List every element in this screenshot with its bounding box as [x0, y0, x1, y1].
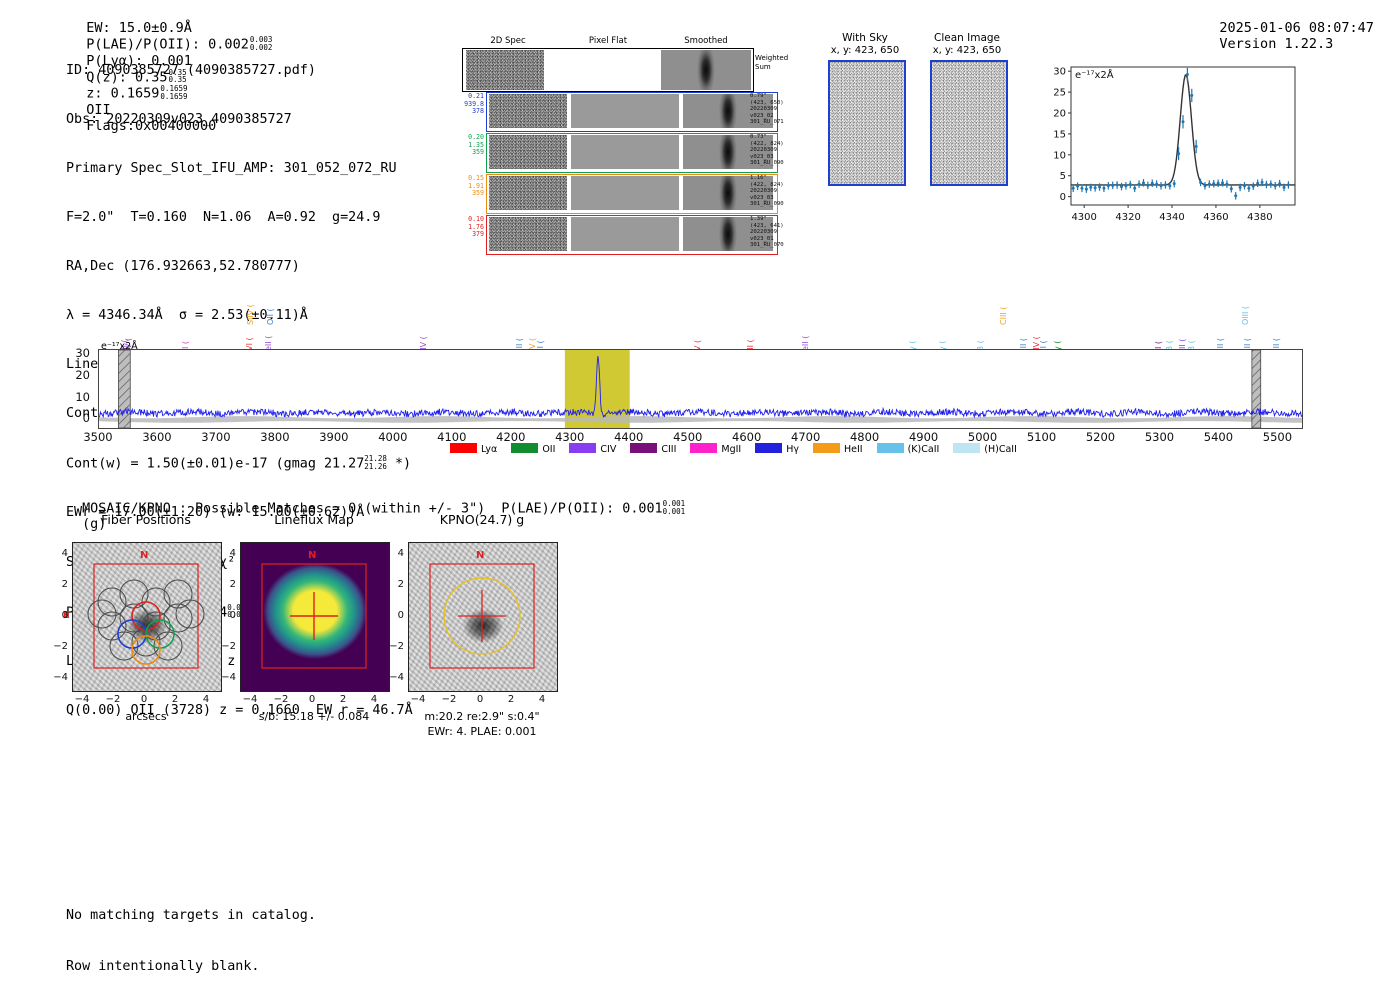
weighted-sum-smoothed-image — [661, 50, 751, 90]
cutout-0-xtick-2: 0 — [134, 694, 154, 705]
spectrum-xtick-4100: 4100 — [428, 430, 476, 444]
legend-swatch-Hγ — [755, 443, 782, 453]
spectrum-xtick-4300: 4300 — [546, 430, 594, 444]
weighted-sum-row — [462, 48, 754, 92]
cutout-0-ytick-4: −4 — [48, 672, 68, 683]
cutout-1-ytick-3: −2 — [216, 641, 236, 652]
cutout-2-ytick-4: −4 — [384, 672, 404, 683]
svg-text:20: 20 — [1053, 109, 1066, 120]
cutout-2-ytick-3: −2 — [384, 641, 404, 652]
legend-swatch-MgII — [690, 443, 717, 453]
version: Version 1.22.3 — [1219, 36, 1333, 52]
svg-text:4380: 4380 — [1247, 212, 1272, 223]
fiber-meta-0: 0.79"(423, 650)20220309v023_02301_RU_071 — [750, 93, 784, 126]
panel-title-smoothed: Smoothed — [660, 36, 752, 46]
clean-image-title: Clean Image — [922, 32, 1012, 44]
svg-text:4320: 4320 — [1115, 212, 1140, 223]
spectrum-xtick-3600: 3600 — [133, 430, 181, 444]
fiber-row-1[interactable] — [486, 133, 778, 173]
legend-label-MgII: MgII — [721, 444, 741, 455]
spectrum-xtick-4000: 4000 — [369, 430, 417, 444]
cutout-2-ytick-1: 2 — [384, 579, 404, 590]
spectrum-xtick-5300: 5300 — [1135, 430, 1183, 444]
clean-image-coords: x, y: 423, 650 — [922, 45, 1012, 56]
fiber-weight-1: 0.201.35359 — [462, 134, 484, 157]
spectrum-xtick-4900: 4900 — [900, 430, 948, 444]
fiber-row-3[interactable] — [486, 215, 778, 255]
gmag-errors: 21.2821.26 — [364, 455, 387, 470]
cutout-1-xtick-1: −2 — [271, 694, 291, 705]
spectrum-ytick-20: 20 — [66, 368, 90, 382]
legend-swatch-Lyα — [450, 443, 477, 453]
cutout-0-ytick-0: 4 — [48, 548, 68, 559]
spectrum-xtick-4200: 4200 — [487, 430, 535, 444]
info-seeing: F=2.0" T=0.160 N=1.06 A=0.92 g=24.9 — [66, 210, 413, 226]
fiber-pixelflat-image-3 — [571, 217, 679, 251]
fiber-meta-3: 1.39"(423, 641)20220309v023_01301_RU_070 — [750, 216, 784, 249]
north-indicator-1: N — [308, 550, 316, 561]
fiber-weight-0: 0.21939.8378 — [462, 93, 484, 116]
panel-title-pixelflat: Pixel Flat — [562, 36, 654, 46]
legend-swatch-KCaII — [877, 443, 904, 453]
fiber-row-0[interactable] — [486, 92, 778, 132]
svg-text:5: 5 — [1060, 171, 1066, 182]
spectrum-xtick-3800: 3800 — [251, 430, 299, 444]
cutout-1-ytick-1: 2 — [216, 579, 236, 590]
info-obs: Obs: 20220309v023_4090385727 — [66, 112, 413, 128]
footer-line-1: No matching targets in catalog. — [66, 907, 316, 924]
cutout-1-ytick-4: −4 — [216, 672, 236, 683]
svg-text:25: 25 — [1053, 88, 1066, 99]
cutout-0-ytick-2: 0 — [48, 610, 68, 621]
cutout-0-xtick-1: −2 — [103, 694, 123, 705]
weighted-sum-label: WeightedSum — [755, 54, 788, 72]
spectrum-ytick-30: 30 — [66, 346, 90, 360]
line-marker-OII-6: OII ( — [266, 308, 275, 325]
line-marker-SiIV-5: SiIV ( — [246, 304, 255, 325]
footer-note: No matching targets in catalog. Row inte… — [66, 873, 316, 992]
svg-text:4360: 4360 — [1203, 212, 1228, 223]
svg-text:4340: 4340 — [1159, 212, 1184, 223]
legend-label-KCaII: (K)CaII — [908, 444, 940, 455]
legend-label-HCaII: (H)CaII — [984, 444, 1017, 455]
cutout-title-0: Fiber Positions — [58, 512, 234, 527]
cutout-1-xtick-2: 0 — [302, 694, 322, 705]
cutout-1-xtick-0: −4 — [240, 694, 260, 705]
info-continuum-wide: Cont(w) = 1.50(±0.01)e-17 (gmag 21.2721.… — [66, 455, 413, 473]
cutout-image-2[interactable] — [408, 542, 558, 692]
fiber-2dspec-image-3 — [489, 217, 567, 251]
legend-label-CIV: CIV — [600, 444, 616, 455]
spectrum-xtick-3500: 3500 — [74, 430, 122, 444]
north-indicator-2: N — [476, 550, 484, 561]
fiber-weight-3: 0.101.76379 — [462, 216, 484, 239]
cutout-title-1: Lineflux Map — [226, 512, 402, 527]
with-sky-title: With Sky — [820, 32, 910, 44]
cutout-1-xtick-3: 2 — [333, 694, 353, 705]
spectrum-y-axis: 0102030 — [66, 340, 96, 435]
line-marker-OIII-28: OIII ( — [1241, 306, 1250, 325]
cutout-image-0[interactable] — [72, 542, 222, 692]
footer-line-2: Row intentionally blank. — [66, 958, 316, 975]
cutout-2-xtick-4: 4 — [532, 694, 552, 705]
svg-text:10: 10 — [1053, 150, 1066, 161]
panel-title-2dspec: 2D Spec — [462, 36, 554, 46]
cutout-0-xtick-3: 2 — [165, 694, 185, 705]
legend-label-HeII: HeII — [844, 444, 863, 455]
emission-line-labels: SiII (CIV (CII (OVI (HeII (SiIV (OII (Si… — [98, 270, 1303, 350]
spectrum-y-unit: e⁻¹⁷x2Å — [101, 341, 138, 352]
weighted-sum-pixelflat-image — [549, 50, 657, 90]
cutout-image-1[interactable] — [240, 542, 390, 692]
spectrum-xtick-4600: 4600 — [723, 430, 771, 444]
cutout-2-xtick-3: 2 — [501, 694, 521, 705]
legend-swatch-OII — [511, 443, 538, 453]
spectrum-xtick-5100: 5100 — [1018, 430, 1066, 444]
fiber-pixelflat-image-2 — [571, 176, 679, 210]
legend-swatch-HCaII — [953, 443, 980, 453]
cutout-0-ytick-1: 2 — [48, 579, 68, 590]
cutout-title-2: KPNO(24.7) g — [394, 512, 570, 527]
fiber-pixelflat-image-0 — [571, 94, 679, 128]
timestamp: 2025-01-06 08:07:47 — [1219, 20, 1373, 36]
spectrum-ytick-0: 0 — [66, 411, 90, 425]
cutout-2-xtick-2: 0 — [470, 694, 490, 705]
spectrum-xtick-3700: 3700 — [192, 430, 240, 444]
svg-text:15: 15 — [1053, 129, 1066, 140]
cutout-1-ytick-2: 0 — [216, 610, 236, 621]
svg-text:0: 0 — [1060, 192, 1066, 203]
bottom-cutout-panels: Fiber PositionsNE420−2−4−4−2024arcsecsLi… — [60, 512, 660, 732]
svg-text:30: 30 — [1053, 67, 1066, 78]
spectrum-xtick-4700: 4700 — [782, 430, 830, 444]
legend-swatch-CIV — [569, 443, 596, 453]
fiber-pixelflat-image-1 — [571, 135, 679, 169]
spectrum-xtick-4800: 4800 — [841, 430, 889, 444]
cutout-caption2-2: EWr: 4. PLAE: 0.001 — [382, 725, 582, 738]
legend-swatch-CIII — [630, 443, 657, 453]
cutout-1-ytick-0: 4 — [216, 548, 236, 559]
spectrum-xtick-4400: 4400 — [605, 430, 653, 444]
spectrum-ytick-10: 10 — [66, 390, 90, 404]
info-primary-spec: Primary Spec_Slot_IFU_AMP: 301_052_072_R… — [66, 161, 413, 177]
legend-label-Lyα: Lyα — [481, 444, 497, 455]
with-sky-coords: x, y: 423, 650 — [820, 45, 910, 56]
spectrum-xtick-5400: 5400 — [1194, 430, 1242, 444]
line-profile-chart: 05101520253043004320434043604380e⁻¹⁷x2Å — [1035, 55, 1303, 235]
legend-swatch-HeII — [813, 443, 840, 453]
spectrum-xtick-5500: 5500 — [1253, 430, 1301, 444]
full-spectrum-chart — [98, 349, 1303, 429]
info-id: ID: 4090385727 (4090385727.pdf) — [66, 63, 413, 79]
weighted-sum-2dspec-image — [466, 50, 544, 90]
clean-image-view — [930, 60, 1008, 186]
fiber-2dspec-image-1 — [489, 135, 567, 169]
cutout-2-xtick-0: −4 — [408, 694, 428, 705]
cutout-2-ytick-0: 4 — [384, 548, 404, 559]
header-timestamp-version: 2025-01-06 08:07:47 Version 1.22.3 — [1203, 4, 1382, 52]
cutout-0-xtick-4: 4 — [196, 694, 216, 705]
spectrum-xtick-5200: 5200 — [1077, 430, 1125, 444]
fiber-row-2[interactable] — [486, 174, 778, 214]
cutout-0-xtick-0: −4 — [72, 694, 92, 705]
spectrum-legend: LyαOIICIVCIIIMgIIHγHeII(K)CaII(H)CaII — [450, 443, 1031, 455]
fiber-rows: 0.21939.83780.79"(423, 650)20220309v023_… — [462, 92, 802, 257]
north-indicator-0: N — [140, 550, 148, 561]
mosaic-plae-errors: 0.0010.001 — [663, 500, 686, 515]
line-marker-CIII-20: CIII ( — [999, 307, 1008, 325]
spectrum-xtick-5000: 5000 — [959, 430, 1007, 444]
cutout-caption-2: m:20.2 re:2.9" s:0.4" — [382, 710, 582, 723]
legend-label-Hγ: Hγ — [786, 444, 799, 455]
cutout-0-ytick-3: −2 — [48, 641, 68, 652]
fiber-meta-2: 1.16"(422, 824)20220309v023_03301_RU_090 — [750, 175, 784, 208]
svg-text:4300: 4300 — [1071, 212, 1096, 223]
svg-text:e⁻¹⁷x2Å: e⁻¹⁷x2Å — [1075, 68, 1114, 81]
spectrum-xtick-4500: 4500 — [664, 430, 712, 444]
fiber-2dspec-image-0 — [489, 94, 567, 128]
cutout-1-xtick-4: 4 — [364, 694, 384, 705]
spectrum-xtick-3900: 3900 — [310, 430, 358, 444]
with-sky-image — [828, 60, 906, 186]
legend-label-OII: OII — [542, 444, 555, 455]
fiber-meta-1: 0.73"(422, 824)20220309v023_03301_RU_090 — [750, 134, 784, 167]
legend-label-CIII: CIII — [661, 444, 676, 455]
fiber-weight-2: 0.151.91359 — [462, 175, 484, 198]
cutout-2-ytick-2: 0 — [384, 610, 404, 621]
fiber-2dspec-image-2 — [489, 176, 567, 210]
cutout-2-xtick-1: −2 — [439, 694, 459, 705]
